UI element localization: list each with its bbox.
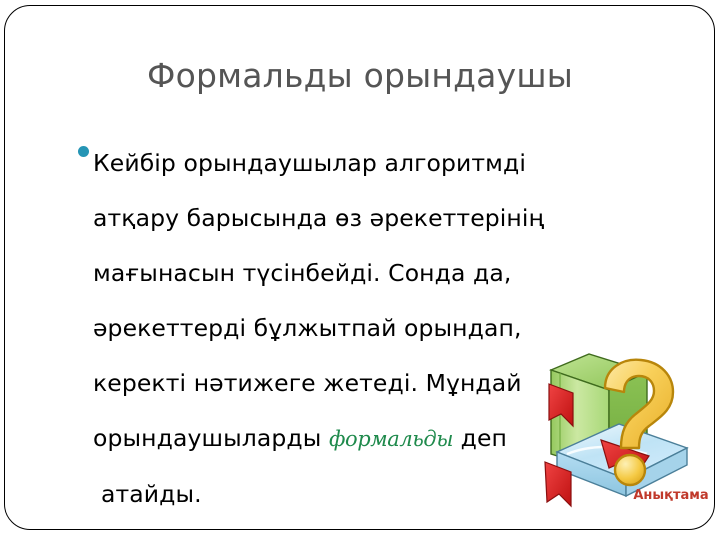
body-line-2: атқару барысында өз әрекеттерінің: [93, 191, 638, 246]
bullet-dot-icon: [78, 146, 89, 157]
page-title: Формальды орындаушы: [0, 56, 720, 96]
presentation-slide: Формальды орындаушы Кейбір орындаушылар …: [0, 0, 720, 540]
body-line-6-prefix: орындаушыларды: [93, 424, 329, 452]
body-line-1: Кейбір орындаушылар алгоритмді: [93, 136, 638, 191]
emphasized-term: формальды: [329, 427, 453, 451]
body-line-6-suffix: деп: [453, 424, 507, 452]
body-line-3: мағынасын түсінбейді. Сонда да,: [93, 246, 638, 301]
reference-books-clipart: Анықтама: [527, 344, 717, 522]
clipart-label: Анықтама: [633, 488, 708, 503]
